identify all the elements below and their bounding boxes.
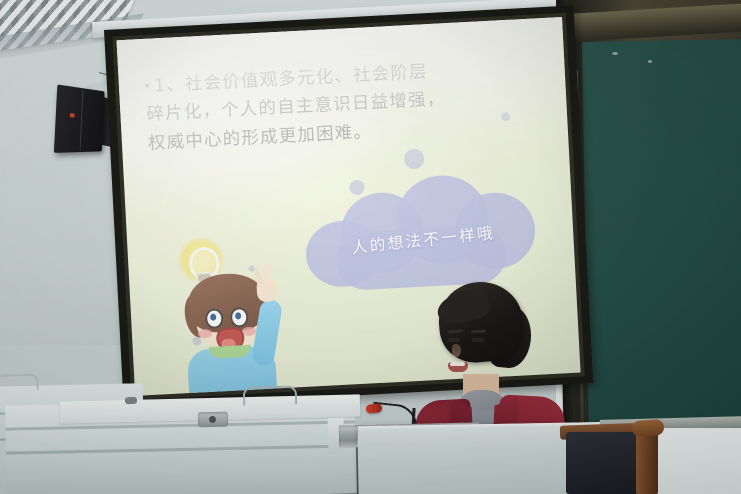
cabinet-handle[interactable] xyxy=(0,374,39,391)
presenter-nose xyxy=(452,344,461,357)
chair-armrest-cap xyxy=(631,419,664,437)
lectern-keyhole-icon xyxy=(209,416,216,423)
presenter-eye-left xyxy=(448,338,460,342)
blackboard-chalk-mark xyxy=(612,52,618,55)
presenter-eye-right xyxy=(472,338,484,342)
cartoon-boy-illustration xyxy=(171,235,319,395)
lectern-handle[interactable] xyxy=(243,385,297,405)
speaker-seam xyxy=(80,90,84,150)
presenter-teeth xyxy=(450,362,465,366)
lectern-seam xyxy=(6,420,356,430)
wall-speaker-icon xyxy=(54,84,105,152)
lectern-latch[interactable] xyxy=(198,412,228,428)
lecture-hall-scene: 1、社会价值观多元化、社会阶层 碎片化，个人的自主意识日益增强， 权威中心的形成… xyxy=(0,0,741,494)
thought-bubble: 人的想法不一样哦 xyxy=(302,171,538,295)
slide-decor-dot xyxy=(404,148,425,169)
slide-body-text: 1、社会价值观多元化、社会阶层 碎片化，个人的自主意识日益增强， 权威中心的形成… xyxy=(144,51,568,158)
speaker-led-icon xyxy=(70,113,75,117)
chair-backrest[interactable] xyxy=(566,432,644,494)
slide-bullet-icon xyxy=(145,83,149,87)
blackboard-chalk-mark xyxy=(648,60,652,63)
blackboard-surface xyxy=(582,39,741,452)
lectern-seam xyxy=(6,444,356,454)
lectern-knob[interactable] xyxy=(125,397,137,404)
lower-right-wall xyxy=(658,428,741,494)
